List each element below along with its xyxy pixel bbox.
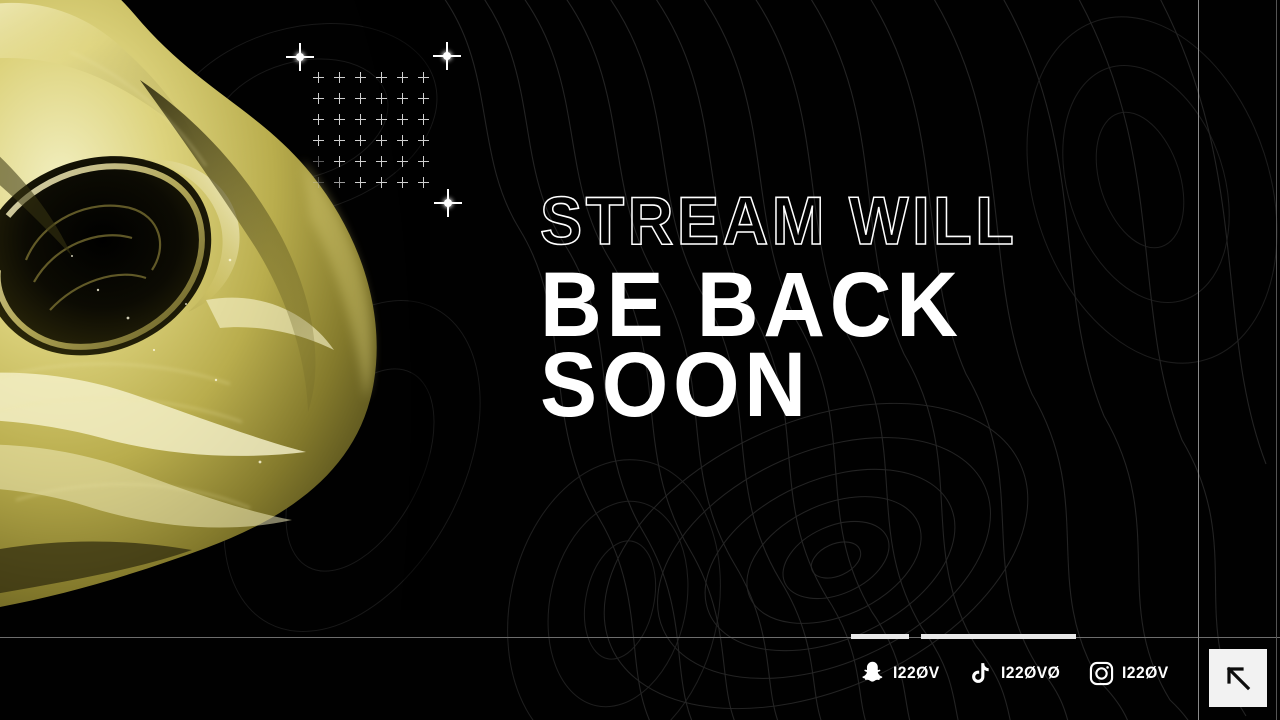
snapchat-icon	[858, 659, 886, 687]
far-right-vertical-divider	[1276, 0, 1277, 720]
sparkle-icon	[434, 189, 462, 217]
headline-line-3: SOON	[540, 343, 1017, 429]
right-vertical-divider	[1198, 0, 1199, 720]
plus-grid-decoration	[313, 72, 435, 184]
headline-block: STREAM WILL BE BACK SOON	[540, 190, 1053, 428]
arrow-up-left-icon	[1222, 662, 1254, 694]
rule-accent-segment	[851, 634, 909, 639]
headline-line-1: STREAM WILL	[540, 190, 1017, 253]
instagram-icon	[1087, 659, 1115, 687]
sparkle-icon	[286, 43, 314, 71]
social-handle-instagram: I22ØV	[1122, 663, 1169, 683]
social-handles-bar: I22ØV I22ØVØ I22ØV	[858, 653, 1173, 693]
social-handle-tiktok: I22ØVØ	[1001, 663, 1060, 683]
tiktok-icon	[966, 659, 994, 687]
sparkle-icon	[433, 42, 461, 70]
stream-overlay-stage: STREAM WILL BE BACK SOON I22ØV I22ØVØ	[0, 0, 1280, 720]
corner-arrow-badge[interactable]	[1209, 649, 1267, 707]
rule-accent-segment	[921, 634, 1076, 639]
social-item-snapchat[interactable]: I22ØV	[858, 659, 944, 687]
social-item-instagram[interactable]: I22ØV	[1087, 659, 1173, 687]
bottom-divider	[0, 637, 1280, 638]
social-item-tiktok[interactable]: I22ØVØ	[966, 659, 1065, 687]
social-handle-snapchat: I22ØV	[893, 663, 940, 683]
